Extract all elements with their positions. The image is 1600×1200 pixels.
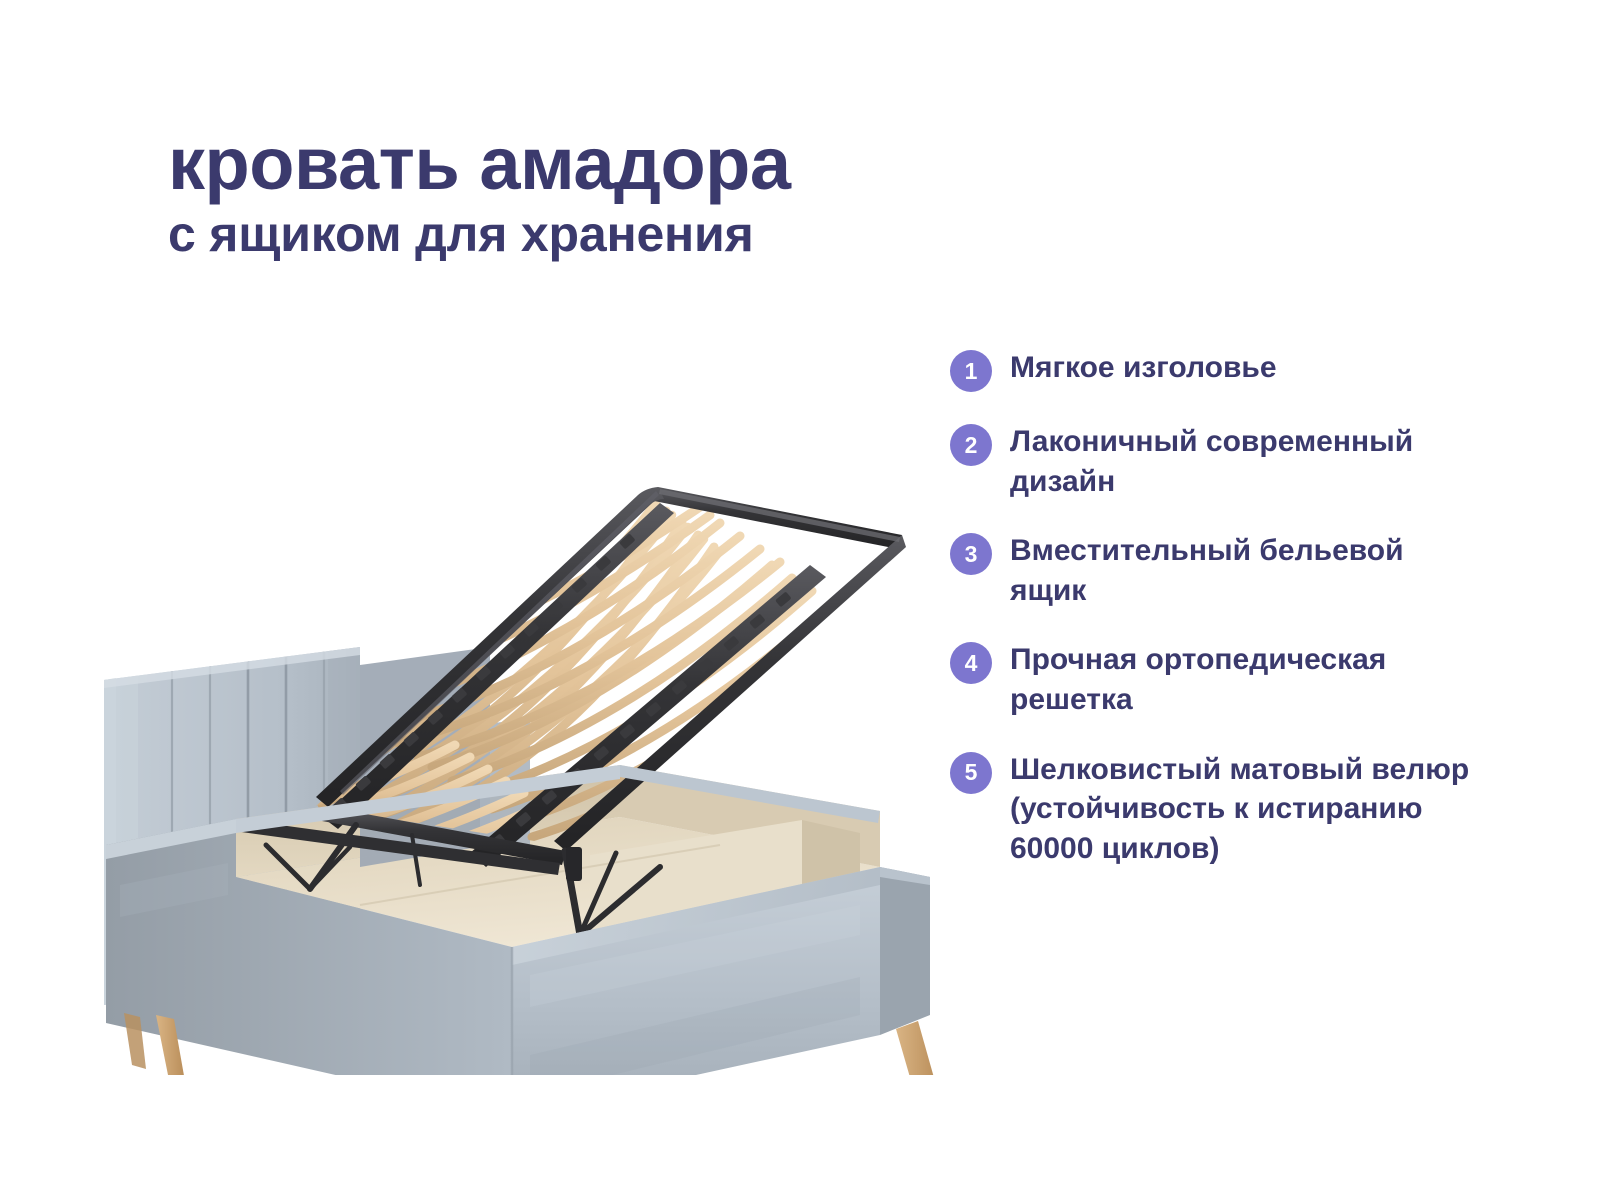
list-item: 1 Мягкое изголовье [950,348,1470,392]
list-item: 4 Прочная ортопедическая решетка [950,640,1470,719]
feature-label: Мягкое изголовье [1010,348,1277,388]
feature-label: Шелковистый матовый велюр (устойчивость … [1010,750,1470,869]
wooden-leg [896,1021,940,1075]
feature-label: Лаконичный современный дизайн [1010,422,1470,501]
page-title-block: кровать амадора с ящиком для хранения [168,128,988,260]
product-photo-storage-bed [60,415,960,1075]
feature-list: 1 Мягкое изголовье 2 Лаконичный современ… [950,348,1470,868]
list-item: 3 Вместительный бельевой ящик [950,531,1470,610]
page-title: кровать амадора [168,128,988,201]
feature-label: Вместительный бельевой ящик [1010,531,1470,610]
list-item: 5 Шелковистый матовый велюр (устойчивост… [950,750,1470,869]
page-subtitle: с ящиком для хранения [168,209,988,260]
feature-number-badge: 1 [950,350,992,392]
feature-label: Прочная ортопедическая решетка [1010,640,1470,719]
lift-bracket [566,847,582,881]
list-item: 2 Лаконичный современный дизайн [950,422,1470,501]
